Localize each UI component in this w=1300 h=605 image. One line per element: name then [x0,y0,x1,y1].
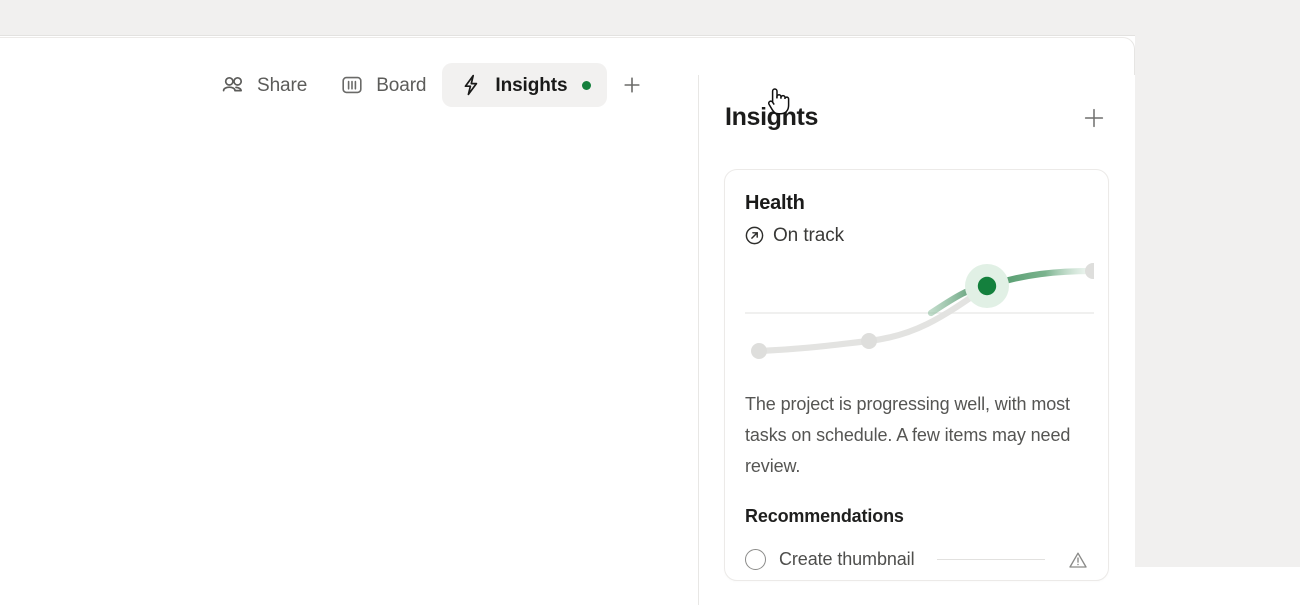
screen-root: Share Board Insights [0,0,1300,567]
top-chrome-strip [0,0,1300,36]
toolbar-item-insights[interactable]: Insights [442,63,607,107]
toolbar-item-insights-label: Insights [495,76,567,95]
page-backdrop-right [1135,0,1300,567]
recommendations-title: Recommendations [745,506,1088,527]
chart-point-0 [751,343,767,359]
toolbar-item-board[interactable]: Board [323,63,442,107]
plus-icon [620,73,644,97]
insights-status-dot [582,81,591,90]
arrow-up-right-circle-icon [745,226,764,245]
toolbar-item-share-label: Share [257,76,307,95]
insight-card-health[interactable]: Health On track [724,169,1109,581]
chart-point-2 [978,277,996,295]
lightning-bolt-icon [458,72,484,98]
chart-point-3 [1085,263,1094,279]
toolbar: Share Board Insights [0,62,653,108]
health-trend-sparkline [745,257,1094,369]
toolbar-add-button[interactable] [611,64,653,106]
recommendation-leader-line [937,559,1045,560]
health-trend-chart [745,257,1094,369]
chart-point-1 [861,333,877,349]
toolbar-item-share[interactable]: Share [204,63,323,107]
card-status-label: On track [773,226,844,245]
card-description: The project is progressing well, with mo… [745,389,1075,482]
panel-add-insight-button[interactable] [1075,99,1113,137]
people-icon [220,72,246,98]
plus-icon [1081,105,1107,131]
toolbar-item-board-label: Board [376,76,426,95]
insights-panel: Insights Health [698,75,1135,605]
card-title: Health [745,192,1088,214]
app-window: Share Board Insights [0,37,1135,567]
insights-panel-header: Insights [699,75,1135,160]
panel-title: Insights [725,105,818,130]
board-columns-icon [339,72,365,98]
card-status-row: On track [745,226,1088,245]
